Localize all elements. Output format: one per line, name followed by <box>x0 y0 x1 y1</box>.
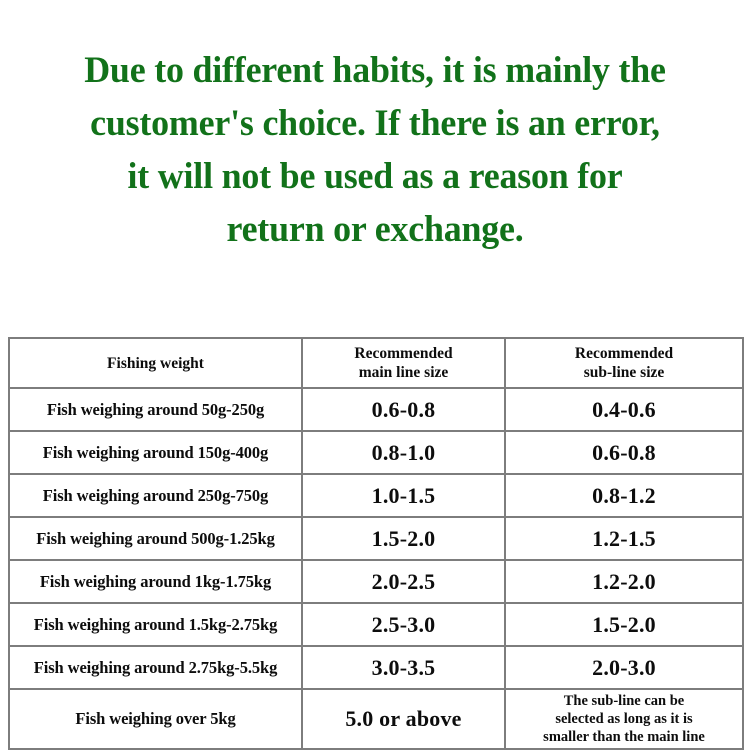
header-main-line-size: Recommended main line size <box>302 338 505 388</box>
cell-fishing-weight: Fish weighing around 1.5kg-2.75kg <box>9 603 302 646</box>
notice-line-1: Due to different habits, it is mainly th… <box>11 44 739 97</box>
table-row: Fish weighing around 2.75kg-5.5kg 3.0-3.… <box>9 646 743 689</box>
cell-sub-line-size: 1.2-2.0 <box>505 560 743 603</box>
cell-fishing-weight: Fish weighing around 2.75kg-5.5kg <box>9 646 302 689</box>
cell-main-line-size: 1.0-1.5 <box>302 474 505 517</box>
table-row: Fish weighing over 5kg 5.0 or above The … <box>9 689 743 749</box>
cell-sub-line-note: The sub-line can be selected as long as … <box>505 689 743 749</box>
cell-fishing-weight: Fish weighing around 250g-750g <box>9 474 302 517</box>
header-main-line-size-line1: Recommended <box>307 344 500 363</box>
cell-fishing-weight: Fish weighing around 1kg-1.75kg <box>9 560 302 603</box>
notice-line-2: customer's choice. If there is an error, <box>11 97 739 150</box>
header-fishing-weight-label: Fishing weight <box>14 354 297 373</box>
cell-main-line-size: 0.6-0.8 <box>302 388 505 431</box>
cell-sub-line-note-line3: smaller than the main line <box>510 728 738 746</box>
cell-main-line-size: 2.5-3.0 <box>302 603 505 646</box>
header-fishing-weight: Fishing weight <box>9 338 302 388</box>
cell-main-line-size: 0.8-1.0 <box>302 431 505 474</box>
cell-main-line-size: 5.0 or above <box>302 689 505 749</box>
cell-main-line-size: 3.0-3.5 <box>302 646 505 689</box>
table-row: Fish weighing around 1.5kg-2.75kg 2.5-3.… <box>9 603 743 646</box>
notice-text: Due to different habits, it is mainly th… <box>11 44 739 256</box>
table-row: Fish weighing around 500g-1.25kg 1.5-2.0… <box>9 517 743 560</box>
cell-fishing-weight: Fish weighing around 50g-250g <box>9 388 302 431</box>
notice-line-4: return or exchange. <box>11 203 739 256</box>
cell-main-line-size: 1.5-2.0 <box>302 517 505 560</box>
table-row: Fish weighing around 1kg-1.75kg 2.0-2.5 … <box>9 560 743 603</box>
cell-sub-line-size: 0.4-0.6 <box>505 388 743 431</box>
cell-sub-line-size: 0.8-1.2 <box>505 474 743 517</box>
cell-sub-line-note-line1: The sub-line can be <box>510 692 738 710</box>
cell-fishing-weight: Fish weighing around 500g-1.25kg <box>9 517 302 560</box>
cell-fishing-weight: Fish weighing around 150g-400g <box>9 431 302 474</box>
header-sub-line-size: Recommended sub-line size <box>505 338 743 388</box>
cell-sub-line-size: 1.5-2.0 <box>505 603 743 646</box>
cell-sub-line-size: 0.6-0.8 <box>505 431 743 474</box>
infographic-page: Due to different habits, it is mainly th… <box>0 0 750 750</box>
cell-sub-line-note-line2: selected as long as it is <box>510 710 738 728</box>
table-header-row: Fishing weight Recommended main line siz… <box>9 338 743 388</box>
table-row: Fish weighing around 50g-250g 0.6-0.8 0.… <box>9 388 743 431</box>
cell-fishing-weight: Fish weighing over 5kg <box>9 689 302 749</box>
cell-main-line-size: 2.0-2.5 <box>302 560 505 603</box>
table-row: Fish weighing around 250g-750g 1.0-1.5 0… <box>9 474 743 517</box>
header-sub-line-size-line2: sub-line size <box>510 363 738 382</box>
table-header: Fishing weight Recommended main line siz… <box>9 338 743 388</box>
header-main-line-size-line2: main line size <box>307 363 500 382</box>
line-size-table-container: Fishing weight Recommended main line siz… <box>8 337 742 750</box>
header-sub-line-size-line1: Recommended <box>510 344 738 363</box>
notice-line-3: it will not be used as a reason for <box>11 150 739 203</box>
table-body: Fish weighing around 50g-250g 0.6-0.8 0.… <box>9 388 743 749</box>
table-row: Fish weighing around 150g-400g 0.8-1.0 0… <box>9 431 743 474</box>
cell-sub-line-size: 2.0-3.0 <box>505 646 743 689</box>
cell-sub-line-size: 1.2-1.5 <box>505 517 743 560</box>
line-size-table: Fishing weight Recommended main line siz… <box>8 337 744 750</box>
